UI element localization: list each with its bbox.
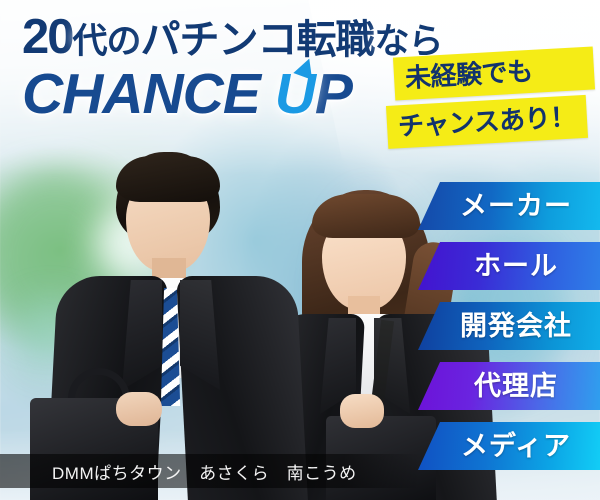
category-label-media: メディア bbox=[447, 433, 571, 460]
category-button-media[interactable]: メディア bbox=[418, 422, 600, 470]
category-button-development-company[interactable]: 開発会社 bbox=[418, 302, 600, 350]
headline-line-1: 20代のパチンコ転職なら bbox=[22, 12, 443, 63]
man-fringe bbox=[116, 156, 220, 202]
logo-chance-text: CHANCE bbox=[22, 62, 275, 126]
person-man bbox=[60, 150, 310, 500]
badge-no-experience: 未経験でも bbox=[393, 46, 595, 100]
category-label-agency: 代理店 bbox=[460, 373, 558, 400]
category-button-agency[interactable]: 代理店 bbox=[418, 362, 600, 410]
credit-text: DMMぱちタウン あさくら 南こうめ bbox=[0, 459, 357, 484]
logo-p-text: P bbox=[315, 62, 352, 126]
category-button-hall[interactable]: ホール bbox=[418, 242, 600, 290]
headline-keyword: パチンコ転職 bbox=[141, 18, 375, 62]
logo-chance-up: CHANCE UP bbox=[22, 66, 443, 123]
badge-chance-available: チャンスあり！ bbox=[386, 95, 588, 149]
category-button-maker[interactable]: メーカー bbox=[418, 182, 600, 230]
logo-u-letter: U bbox=[275, 66, 315, 123]
category-label-maker: メーカー bbox=[446, 193, 572, 220]
recruitment-banner: 20代のパチンコ転職なら CHANCE UP 未経験でも チャンスあり！ メーカ… bbox=[0, 0, 600, 500]
man-hand bbox=[116, 392, 162, 426]
category-list: メーカー ホール 開発会社 代理店 メディア bbox=[418, 182, 600, 470]
credit-bar: DMMぱちタウン あさくら 南こうめ bbox=[0, 454, 420, 488]
category-label-hall: ホール bbox=[460, 253, 558, 280]
woman-hand bbox=[340, 394, 384, 428]
category-label-development-company: 開発会社 bbox=[446, 313, 572, 340]
headline-number: 20 bbox=[22, 10, 73, 64]
headline-dai-no: 代の bbox=[73, 22, 141, 61]
woman-fringe bbox=[312, 194, 420, 238]
headline-block: 20代のパチンコ転職なら CHANCE UP bbox=[22, 12, 443, 123]
highlight-badges: 未経験でも チャンスあり！ bbox=[394, 52, 594, 143]
